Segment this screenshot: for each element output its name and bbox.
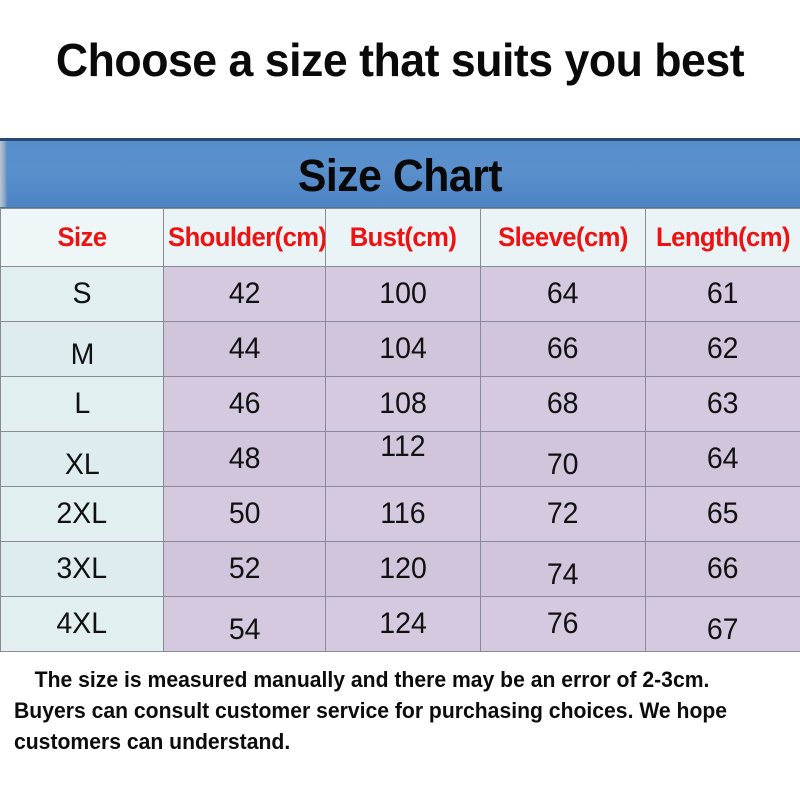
size-chart-table: Size Shoulder(cm) Bust(cm) Sleeve(cm) Le…: [0, 208, 800, 652]
table-row: S 42 100 64 61: [1, 267, 800, 322]
cell-bust-value: 112: [380, 430, 425, 464]
size-chart-page: Choose a size that suits you best Size C…: [0, 0, 800, 800]
cell-sleeve-value: 74: [547, 558, 579, 592]
cell-bust: 116: [326, 487, 481, 542]
cell-size: 3XL: [1, 542, 164, 597]
cell-bust: 124: [326, 597, 481, 652]
cell-sleeve: 72: [481, 487, 646, 542]
cell-bust-value: 120: [379, 552, 427, 586]
cell-sleeve-value: 76: [547, 607, 579, 641]
column-header-sleeve-label: Sleeve(cm): [485, 222, 641, 253]
cell-shoulder: 54: [164, 597, 326, 652]
cell-length: 66: [646, 542, 800, 597]
cell-size-value: 3XL: [57, 552, 108, 586]
column-header-length-label: Length(cm): [650, 222, 796, 253]
measurement-disclaimer: The size is measured manually and there …: [14, 664, 745, 757]
cell-sleeve: 74: [481, 542, 646, 597]
table-row: 2XL 50 116 72 65: [1, 487, 800, 542]
cell-shoulder-value: 46: [229, 387, 261, 421]
size-chart-banner: Size Chart: [0, 138, 800, 208]
cell-shoulder: 46: [164, 377, 326, 432]
cell-sleeve: 68: [481, 377, 646, 432]
cell-length: 63: [646, 377, 800, 432]
size-chart-banner-title: Size Chart: [20, 141, 780, 211]
cell-bust: 112: [326, 432, 481, 487]
cell-bust: 100: [326, 267, 481, 322]
cell-bust-value: 100: [379, 277, 427, 311]
column-header-bust-label: Bust(cm): [330, 222, 476, 253]
cell-length-value: 66: [707, 552, 739, 586]
cell-shoulder: 48: [164, 432, 326, 487]
cell-bust: 108: [326, 377, 481, 432]
cell-length-value: 67: [707, 613, 739, 647]
cell-size-value: XL: [65, 448, 100, 482]
cell-shoulder-value: 50: [229, 497, 261, 531]
cell-size-value: L: [74, 387, 90, 421]
cell-shoulder: 52: [164, 542, 326, 597]
size-chart-block: Size Chart Size Shoulder(cm) Bust(cm): [0, 138, 800, 652]
cell-bust-value: 116: [380, 497, 425, 531]
cell-sleeve: 66: [481, 322, 646, 377]
cell-shoulder-value: 52: [229, 552, 261, 586]
cell-sleeve-value: 70: [547, 448, 579, 482]
cell-sleeve: 76: [481, 597, 646, 652]
cell-shoulder: 42: [164, 267, 326, 322]
cell-shoulder: 44: [164, 322, 326, 377]
cell-size-value: 4XL: [57, 607, 108, 641]
cell-shoulder: 50: [164, 487, 326, 542]
page-title: Choose a size that suits you best: [12, 34, 788, 86]
cell-sleeve-value: 72: [547, 497, 579, 531]
cell-shoulder-value: 44: [229, 332, 261, 366]
cell-bust-value: 104: [379, 332, 427, 366]
cell-sleeve-value: 66: [547, 332, 579, 366]
cell-length: 65: [646, 487, 800, 542]
cell-sleeve: 70: [481, 432, 646, 487]
cell-sleeve-value: 68: [547, 387, 579, 421]
column-header-size-label: Size: [5, 222, 159, 253]
cell-size: 4XL: [1, 597, 164, 652]
cell-size: 2XL: [1, 487, 164, 542]
cell-shoulder-value: 54: [229, 613, 261, 647]
table-header-row: Size Shoulder(cm) Bust(cm) Sleeve(cm) Le…: [1, 209, 800, 267]
column-header-shoulder-label: Shoulder(cm): [168, 222, 321, 253]
table-row: M 44 104 66 62: [1, 322, 800, 377]
table-row: L 46 108 68 63: [1, 377, 800, 432]
table-row: 4XL 54 124 76 67: [1, 597, 800, 652]
cell-length: 62: [646, 322, 800, 377]
cell-size-value: M: [70, 338, 94, 372]
cell-length: 67: [646, 597, 800, 652]
cell-length-value: 65: [707, 497, 739, 531]
column-header-size: Size: [1, 209, 164, 267]
cell-length-value: 61: [707, 277, 739, 311]
column-header-length: Length(cm): [646, 209, 800, 267]
cell-size: M: [1, 322, 164, 377]
cell-size: L: [1, 377, 164, 432]
cell-size-value: S: [72, 277, 91, 311]
column-header-sleeve: Sleeve(cm): [481, 209, 646, 267]
cell-bust-value: 108: [379, 387, 427, 421]
cell-shoulder-value: 42: [229, 277, 261, 311]
cell-sleeve-value: 64: [547, 277, 579, 311]
cell-length: 61: [646, 267, 800, 322]
cell-length: 64: [646, 432, 800, 487]
table-row: XL 48 112 70 64: [1, 432, 800, 487]
cell-length-value: 64: [707, 442, 739, 476]
cell-bust: 104: [326, 322, 481, 377]
cell-length-value: 62: [707, 332, 739, 366]
cell-bust-value: 124: [379, 607, 427, 641]
cell-sleeve: 64: [481, 267, 646, 322]
cell-shoulder-value: 48: [229, 442, 261, 476]
table-row: 3XL 52 120 74 66: [1, 542, 800, 597]
cell-size: XL: [1, 432, 164, 487]
cell-size-value: 2XL: [57, 497, 108, 531]
cell-bust: 120: [326, 542, 481, 597]
column-header-shoulder: Shoulder(cm): [164, 209, 326, 267]
cell-size: S: [1, 267, 164, 322]
column-header-bust: Bust(cm): [326, 209, 481, 267]
cell-length-value: 63: [707, 387, 739, 421]
